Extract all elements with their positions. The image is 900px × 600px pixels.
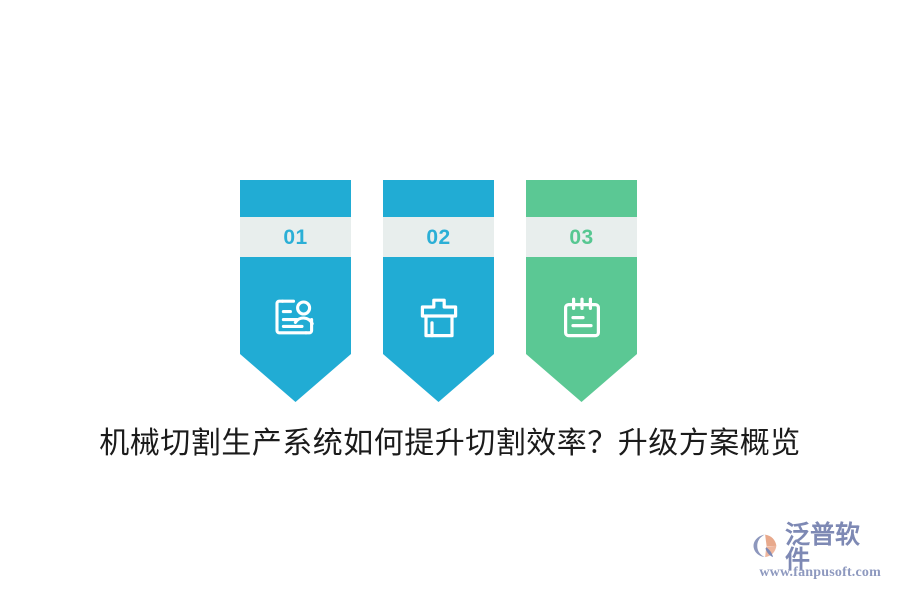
page-canvas: 01 02 — [0, 0, 900, 600]
banner-label-band: 03 — [526, 217, 637, 257]
page-title: 机械切割生产系统如何提升切割效率？升级方案概览 — [0, 418, 900, 462]
storefront-icon — [383, 290, 494, 346]
banner-item-01[interactable]: 01 — [240, 180, 351, 402]
banner-label-band: 02 — [383, 217, 494, 257]
banner-item-03[interactable]: 03 — [526, 180, 637, 402]
notepad-icon — [526, 290, 637, 346]
banner-number: 03 — [569, 227, 593, 248]
banner-group: 01 02 — [240, 180, 646, 402]
logo-row: 泛普软件 — [752, 530, 882, 564]
banner-number: 02 — [426, 227, 450, 248]
brand-logo: 泛普软件 www.fanpusoft.com — [752, 530, 882, 582]
banner-item-02[interactable]: 02 — [383, 180, 494, 402]
banner-number: 01 — [283, 227, 307, 248]
logo-url: www.fanpusoft.com — [752, 565, 882, 581]
banner-label-band: 01 — [240, 217, 351, 257]
fanpu-logo-mark — [752, 532, 782, 562]
contact-card-icon — [240, 290, 351, 346]
